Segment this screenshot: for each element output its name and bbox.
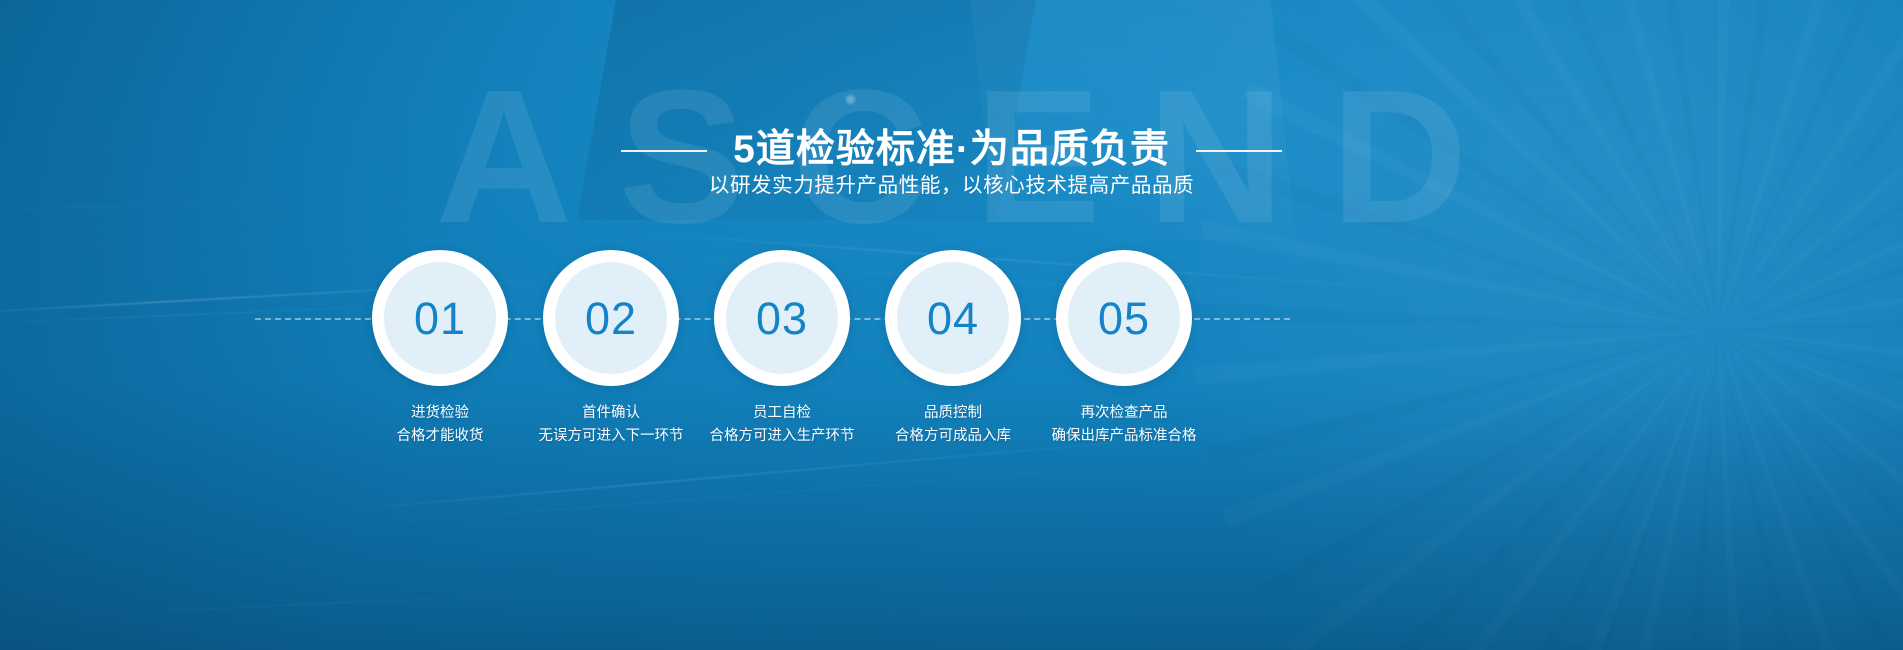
step-number: 04 — [927, 296, 979, 341]
step-badge[interactable]: 01 — [372, 250, 508, 386]
step-title: 首件确认 — [539, 402, 684, 425]
steps-list: 01 进货检验 合格才能收货 02 首件确认 无误方可进入下一环节 — [372, 250, 1192, 386]
step-badge-inner: 04 — [897, 262, 1009, 374]
page-title: 5道检验标准·为品质负责 — [733, 129, 1170, 172]
step-title: 员工自检 — [710, 402, 855, 425]
step-caption: 员工自检 合格方可进入生产环节 — [710, 402, 855, 448]
step-number: 01 — [414, 296, 466, 341]
quality-standards-banner: ASCEND 5道检验标准·为品质负责 以研发实力提升产品性能，以核心技术提高产… — [0, 0, 1903, 650]
step-description: 合格才能收货 — [397, 425, 484, 448]
step-badge[interactable]: 03 — [714, 250, 850, 386]
step-badge[interactable]: 02 — [543, 250, 679, 386]
step-description: 无误方可进入下一环节 — [539, 425, 684, 448]
step-title: 进货检验 — [397, 402, 484, 425]
step-item[interactable]: 05 再次检查产品 确保出库产品标准合格 — [1056, 250, 1192, 386]
step-description: 确保出库产品标准合格 — [1052, 425, 1197, 448]
step-item[interactable]: 04 品质控制 合格方可成品入库 — [885, 250, 1021, 386]
step-caption: 品质控制 合格方可成品入库 — [895, 402, 1011, 448]
step-caption: 首件确认 无误方可进入下一环节 — [539, 402, 684, 448]
step-item[interactable]: 02 首件确认 无误方可进入下一环节 — [543, 250, 679, 386]
step-title: 再次检查产品 — [1052, 402, 1197, 425]
steps-section: 01 进货检验 合格才能收货 02 首件确认 无误方可进入下一环节 — [0, 250, 1903, 580]
step-badge-inner: 03 — [726, 262, 838, 374]
step-title: 品质控制 — [895, 402, 1011, 425]
step-number: 03 — [756, 296, 808, 341]
step-caption: 进货检验 合格才能收货 — [397, 402, 484, 448]
step-item[interactable]: 03 员工自检 合格方可进入生产环节 — [714, 250, 850, 386]
step-badge[interactable]: 04 — [885, 250, 1021, 386]
step-badge-inner: 02 — [555, 262, 667, 374]
step-badge-inner: 05 — [1068, 262, 1180, 374]
step-description: 合格方可成品入库 — [895, 425, 1011, 448]
page-subtitle: 以研发实力提升产品性能，以核心技术提高产品品质 — [0, 168, 1903, 198]
step-badge[interactable]: 05 — [1056, 250, 1192, 386]
step-description: 合格方可进入生产环节 — [710, 425, 855, 448]
step-item[interactable]: 01 进货检验 合格才能收货 — [372, 250, 508, 386]
step-caption: 再次检查产品 确保出库产品标准合格 — [1052, 402, 1197, 448]
step-number: 05 — [1098, 296, 1150, 341]
step-number: 02 — [585, 296, 637, 341]
step-badge-inner: 01 — [384, 262, 496, 374]
headline-rule-left — [621, 150, 707, 152]
headline-rule-right — [1196, 150, 1282, 152]
